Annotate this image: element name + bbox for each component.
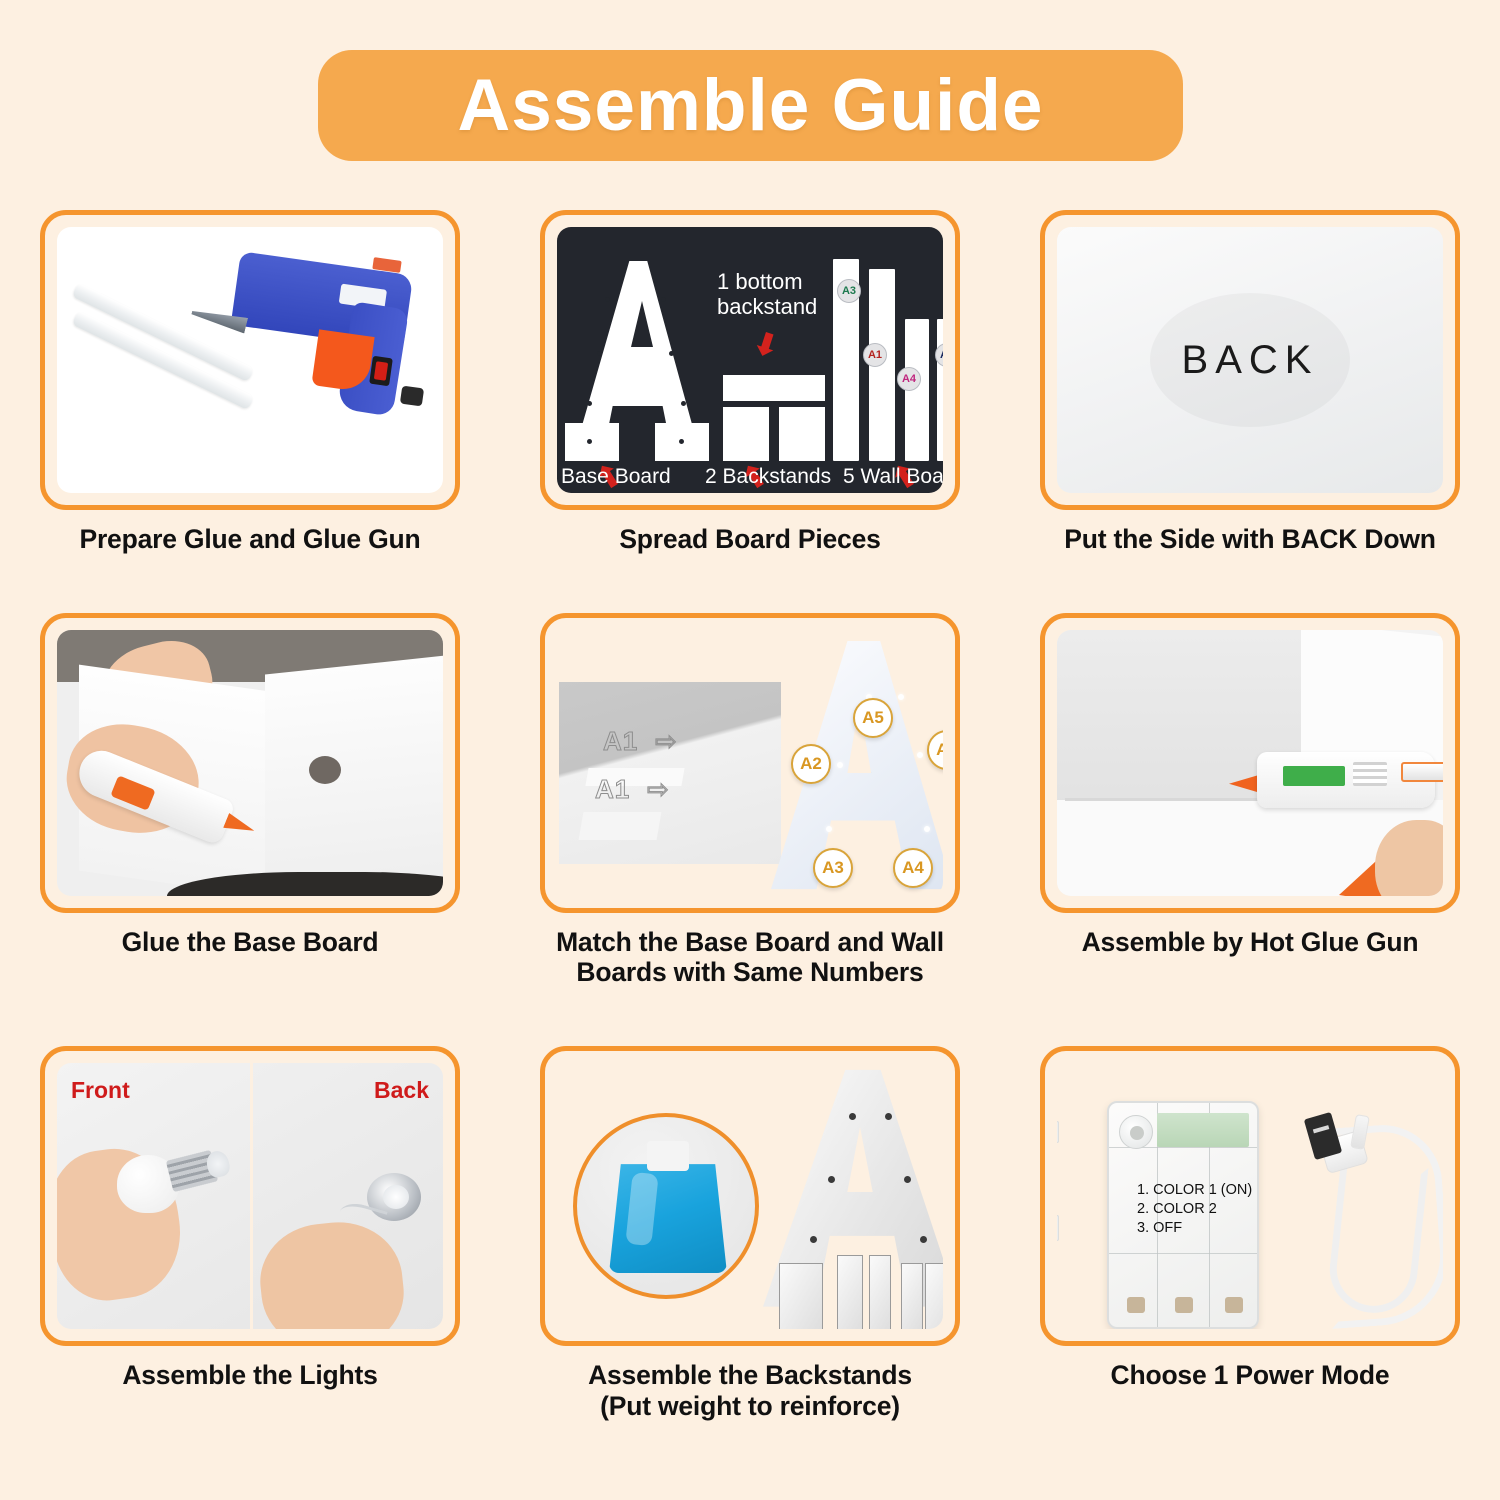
led-dot [917, 752, 923, 758]
steps-row-2: Glue the Base Board A1 ⇨ A1 ⇨ [0, 613, 1500, 988]
arrow-right-outline-icon: ⇨ [655, 726, 677, 757]
glue-gun-power-switch-icon [369, 356, 393, 387]
arrow-right-outline-icon: ⇨ [647, 774, 669, 805]
bottom-backstand-note-line-2: backstand [717, 294, 817, 319]
label-5-wall-boards: 5 Wall Boards [843, 465, 943, 489]
board-marking-photo: A1 ⇨ A1 ⇨ [559, 682, 781, 864]
step-4-image-panel [40, 613, 460, 913]
step-6-image-panel [1040, 613, 1460, 913]
water-bag-icon [609, 1157, 727, 1273]
usb-plug-icon [1304, 1112, 1342, 1160]
step-card-8: Assemble the Backstands (Put weight to r… [500, 1046, 1000, 1421]
steps-row-3: Front Back [0, 1046, 1500, 1421]
led-hole [828, 1176, 835, 1183]
match-scene: A1 ⇨ A1 ⇨ [557, 630, 943, 896]
led-hole [587, 401, 592, 406]
board-pieces-diagram: A3 A1 A4 A2 A5 1 bottom backstand ⬇ ⬆ ⬆ … [557, 227, 943, 493]
back-board-photo: BACK [1057, 227, 1443, 493]
letter-badge-a4: A4 [893, 848, 933, 888]
glue-gun-vent-icon [1353, 762, 1387, 786]
step-card-5: A1 ⇨ A1 ⇨ [500, 613, 1000, 988]
battery-box-tab [1057, 1215, 1059, 1241]
marking-label-a1-upper: A1 [603, 726, 638, 757]
backstand-piece [723, 407, 769, 461]
step-2-caption: Spread Board Pieces [520, 524, 980, 555]
backstand-piece [837, 1255, 863, 1329]
glue-gun-illustration [57, 227, 443, 493]
match-numbers-illustration: A1 ⇨ A1 ⇨ [557, 630, 943, 896]
step-card-9: 1. COLOR 1 (ON) 2. COLOR 2 3. OFF [1000, 1046, 1500, 1421]
step-1-image-panel [40, 210, 460, 510]
power-mode-3: 3. OFF [1137, 1219, 1252, 1238]
piece-badge-a3: A3 [837, 279, 861, 303]
step-card-1: Prepare Glue and Glue Gun [0, 210, 500, 555]
step-9-image-panel: 1. COLOR 1 (ON) 2. COLOR 2 3. OFF [1040, 1046, 1460, 1346]
led-hole [810, 1236, 817, 1243]
front-view-photo: Front [57, 1063, 250, 1329]
step-8-image-panel [540, 1046, 960, 1346]
power-mode-list: 1. COLOR 1 (ON) 2. COLOR 2 3. OFF [1137, 1181, 1252, 1238]
power-mode-2: 2. COLOR 2 [1137, 1200, 1252, 1219]
board-tab-lower [579, 812, 662, 840]
glue-gun-brand-label [1283, 766, 1345, 786]
back-view-photo: Back [250, 1063, 443, 1329]
letter-badge-a2: A2 [791, 744, 831, 784]
hot-glue-gun-photo [1057, 630, 1443, 896]
page-title-banner: Assemble Guide [318, 50, 1183, 161]
led-hole [587, 439, 592, 444]
water-bag-handle [647, 1141, 689, 1171]
step-card-2: A3 A1 A4 A2 A5 1 bottom backstand ⬇ ⬆ ⬆ … [500, 210, 1000, 555]
step-8-caption-line-2: (Put weight to reinforce) [520, 1391, 980, 1422]
step-5-caption: Match the Base Board and Wall Boards wit… [520, 927, 980, 988]
backstands-illustration [557, 1063, 943, 1329]
power-mode-1: 1. COLOR 1 (ON) [1137, 1181, 1252, 1200]
battery-seam [1109, 1253, 1257, 1254]
step-8-caption: Assemble the Backstands (Put weight to r… [520, 1360, 980, 1421]
step-3-image-panel: BACK [1040, 210, 1460, 510]
label-base-board: Base Board [561, 465, 671, 489]
back-stamp-text: BACK [1182, 338, 1319, 383]
backstands-scene [557, 1063, 943, 1329]
step-3-caption: Put the Side with BACK Down [1020, 524, 1480, 555]
step-card-3: BACK Put the Side with BACK Down [1000, 210, 1500, 555]
step-1-caption: Prepare Glue and Glue Gun [20, 524, 480, 555]
letter-badge-a3: A3 [813, 848, 853, 888]
step-card-7: Front Back [0, 1046, 500, 1421]
photo-scene [1057, 630, 1443, 896]
split-photo: Front Back [57, 1063, 443, 1329]
wall-board-a2 [937, 319, 943, 461]
backstand-piece [901, 1263, 923, 1329]
glue-base-board-photo [57, 630, 443, 896]
letter-a-3d-gray [763, 1067, 943, 1329]
step-7-image-panel: Front Back [40, 1046, 460, 1346]
back-label: Back [374, 1077, 429, 1104]
label-2-backstands: 2 Backstands [705, 465, 831, 489]
led-hole [681, 401, 686, 406]
white-photo-background [57, 227, 443, 493]
backstand-piece [925, 1263, 943, 1329]
step-5-caption-line-2: Boards with Same Numbers [520, 957, 980, 988]
piece-badge-a4: A4 [897, 367, 921, 391]
circuit-board [1157, 1113, 1249, 1147]
weight-detail-circle [573, 1113, 759, 1299]
bulb-hole [309, 756, 341, 784]
step-7-caption: Assemble the Lights [20, 1360, 480, 1391]
led-hole [885, 1113, 892, 1120]
led-hole [605, 297, 610, 302]
step-2-image-panel: A3 A1 A4 A2 A5 1 bottom backstand ⬇ ⬆ ⬆ … [540, 210, 960, 510]
page-title: Assemble Guide [457, 64, 1043, 147]
battery-cell [1175, 1297, 1193, 1313]
step-5-caption-line-1: Match the Base Board and Wall [520, 927, 980, 958]
step-6-caption: Assemble by Hot Glue Gun [1020, 927, 1480, 958]
marking-label-a1-lower: A1 [595, 774, 630, 805]
backstand-piece [779, 1263, 823, 1329]
led-dot [924, 826, 930, 832]
battery-cell [1225, 1297, 1243, 1313]
battery-box: 1. COLOR 1 (ON) 2. COLOR 2 3. OFF [1107, 1101, 1259, 1329]
letter-badge-a5: A5 [853, 698, 893, 738]
bottom-backstand-piece [723, 375, 825, 401]
backstand-piece [779, 407, 825, 461]
glue-gun-plug-icon [400, 386, 424, 407]
front-label: Front [71, 1077, 130, 1104]
photo-scene [57, 630, 443, 896]
led-dot [898, 694, 904, 700]
step-5-image-panel: A1 ⇨ A1 ⇨ [540, 613, 960, 913]
step-9-caption: Choose 1 Power Mode [1020, 1360, 1480, 1391]
led-hole [920, 1236, 927, 1243]
white-board-surface: BACK [1057, 227, 1443, 493]
letter-a-left-foot [565, 423, 619, 461]
piece-badge-a1: A1 [863, 343, 887, 367]
led-dot [826, 826, 832, 832]
led-hole [679, 439, 684, 444]
power-scene: 1. COLOR 1 (ON) 2. COLOR 2 3. OFF [1057, 1063, 1443, 1329]
bottom-backstand-note: 1 bottom backstand [717, 269, 817, 320]
arrow-down-icon: ⬇ [749, 328, 782, 364]
battery-box-photo: 1. COLOR 1 (ON) 2. COLOR 2 3. OFF [1057, 1063, 1443, 1329]
step-card-4: Glue the Base Board [0, 613, 500, 988]
lights-front-back-photo: Front Back [57, 1063, 443, 1329]
hand-installing-socket [255, 1216, 410, 1329]
step-4-caption: Glue the Base Board [20, 927, 480, 958]
backstand-piece [869, 1255, 891, 1329]
step-card-6: Assemble by Hot Glue Gun [1000, 613, 1500, 988]
dark-diagram-background: A3 A1 A4 A2 A5 1 bottom backstand ⬇ ⬆ ⬆ … [557, 227, 943, 493]
battery-cell [1127, 1297, 1145, 1313]
steps-grid: Prepare Glue and Glue Gun [0, 210, 1500, 1422]
led-hole [597, 351, 602, 356]
step-8-caption-line-1: Assemble the Backstands [520, 1360, 980, 1391]
power-switch-button[interactable] [1119, 1115, 1153, 1149]
bottom-backstand-note-line-1: 1 bottom [717, 269, 817, 294]
glue-stick-icon [1401, 762, 1443, 782]
battery-box-tab [1057, 1121, 1059, 1143]
steps-row-1: Prepare Glue and Glue Gun [0, 210, 1500, 555]
led-hole [661, 297, 666, 302]
led-hole [669, 351, 674, 356]
base-board-right [265, 653, 443, 896]
